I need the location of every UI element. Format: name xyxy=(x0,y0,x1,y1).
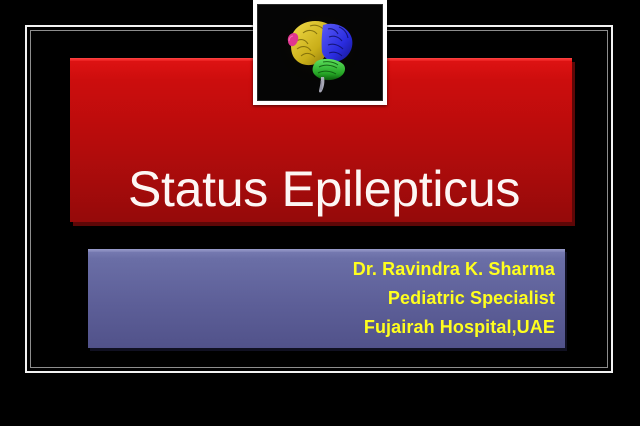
presenter-info-list: Dr. Ravindra K. Sharma Pediatric Special… xyxy=(353,255,555,342)
subtitle-plate: Dr. Ravindra K. Sharma Pediatric Special… xyxy=(88,249,565,348)
brain-icon xyxy=(277,11,363,95)
presenter-name: Dr. Ravindra K. Sharma xyxy=(353,255,555,284)
brain-image-frame xyxy=(253,0,387,105)
presenter-affiliation: Fujairah Hospital,UAE xyxy=(353,313,555,342)
page-title: Status Epilepticus xyxy=(128,164,520,214)
brain-image-backdrop xyxy=(257,4,383,101)
presenter-role: Pediatric Specialist xyxy=(353,284,555,313)
title-slide: Status Epilepticus xyxy=(0,0,640,426)
